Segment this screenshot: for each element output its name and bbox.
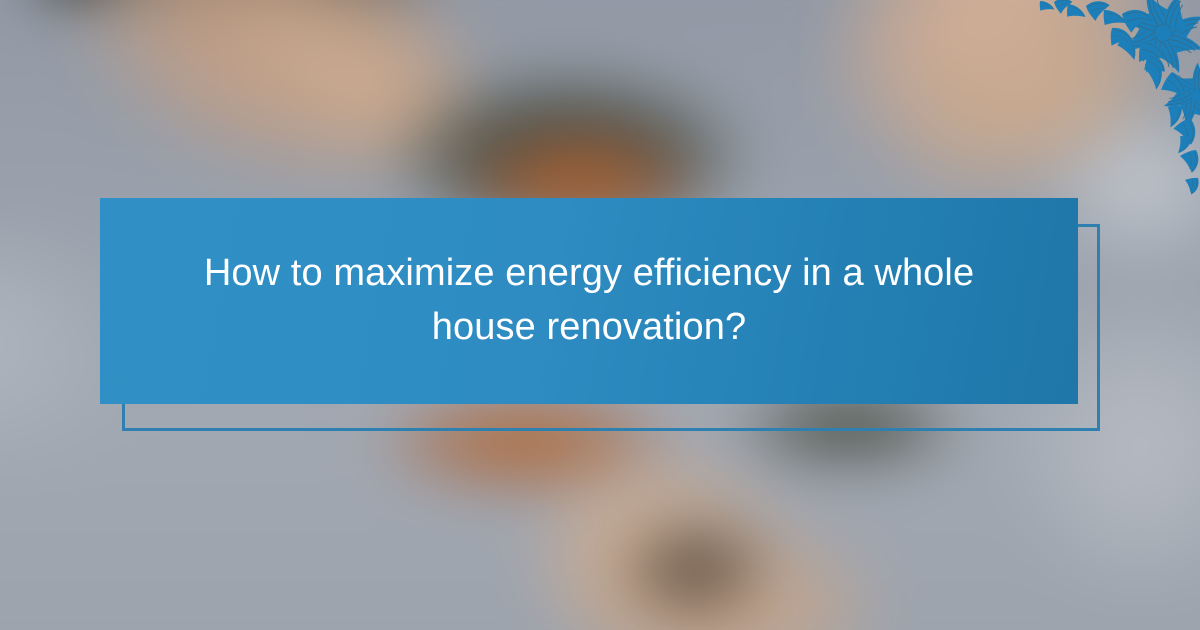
page-title: How to maximize energy efficiency in a w… [194, 247, 984, 355]
title-banner: How to maximize energy efficiency in a w… [100, 198, 1078, 404]
background-shadow-bottom [611, 511, 781, 628]
question-card-canvas: How to maximize energy efficiency in a w… [0, 0, 1200, 630]
